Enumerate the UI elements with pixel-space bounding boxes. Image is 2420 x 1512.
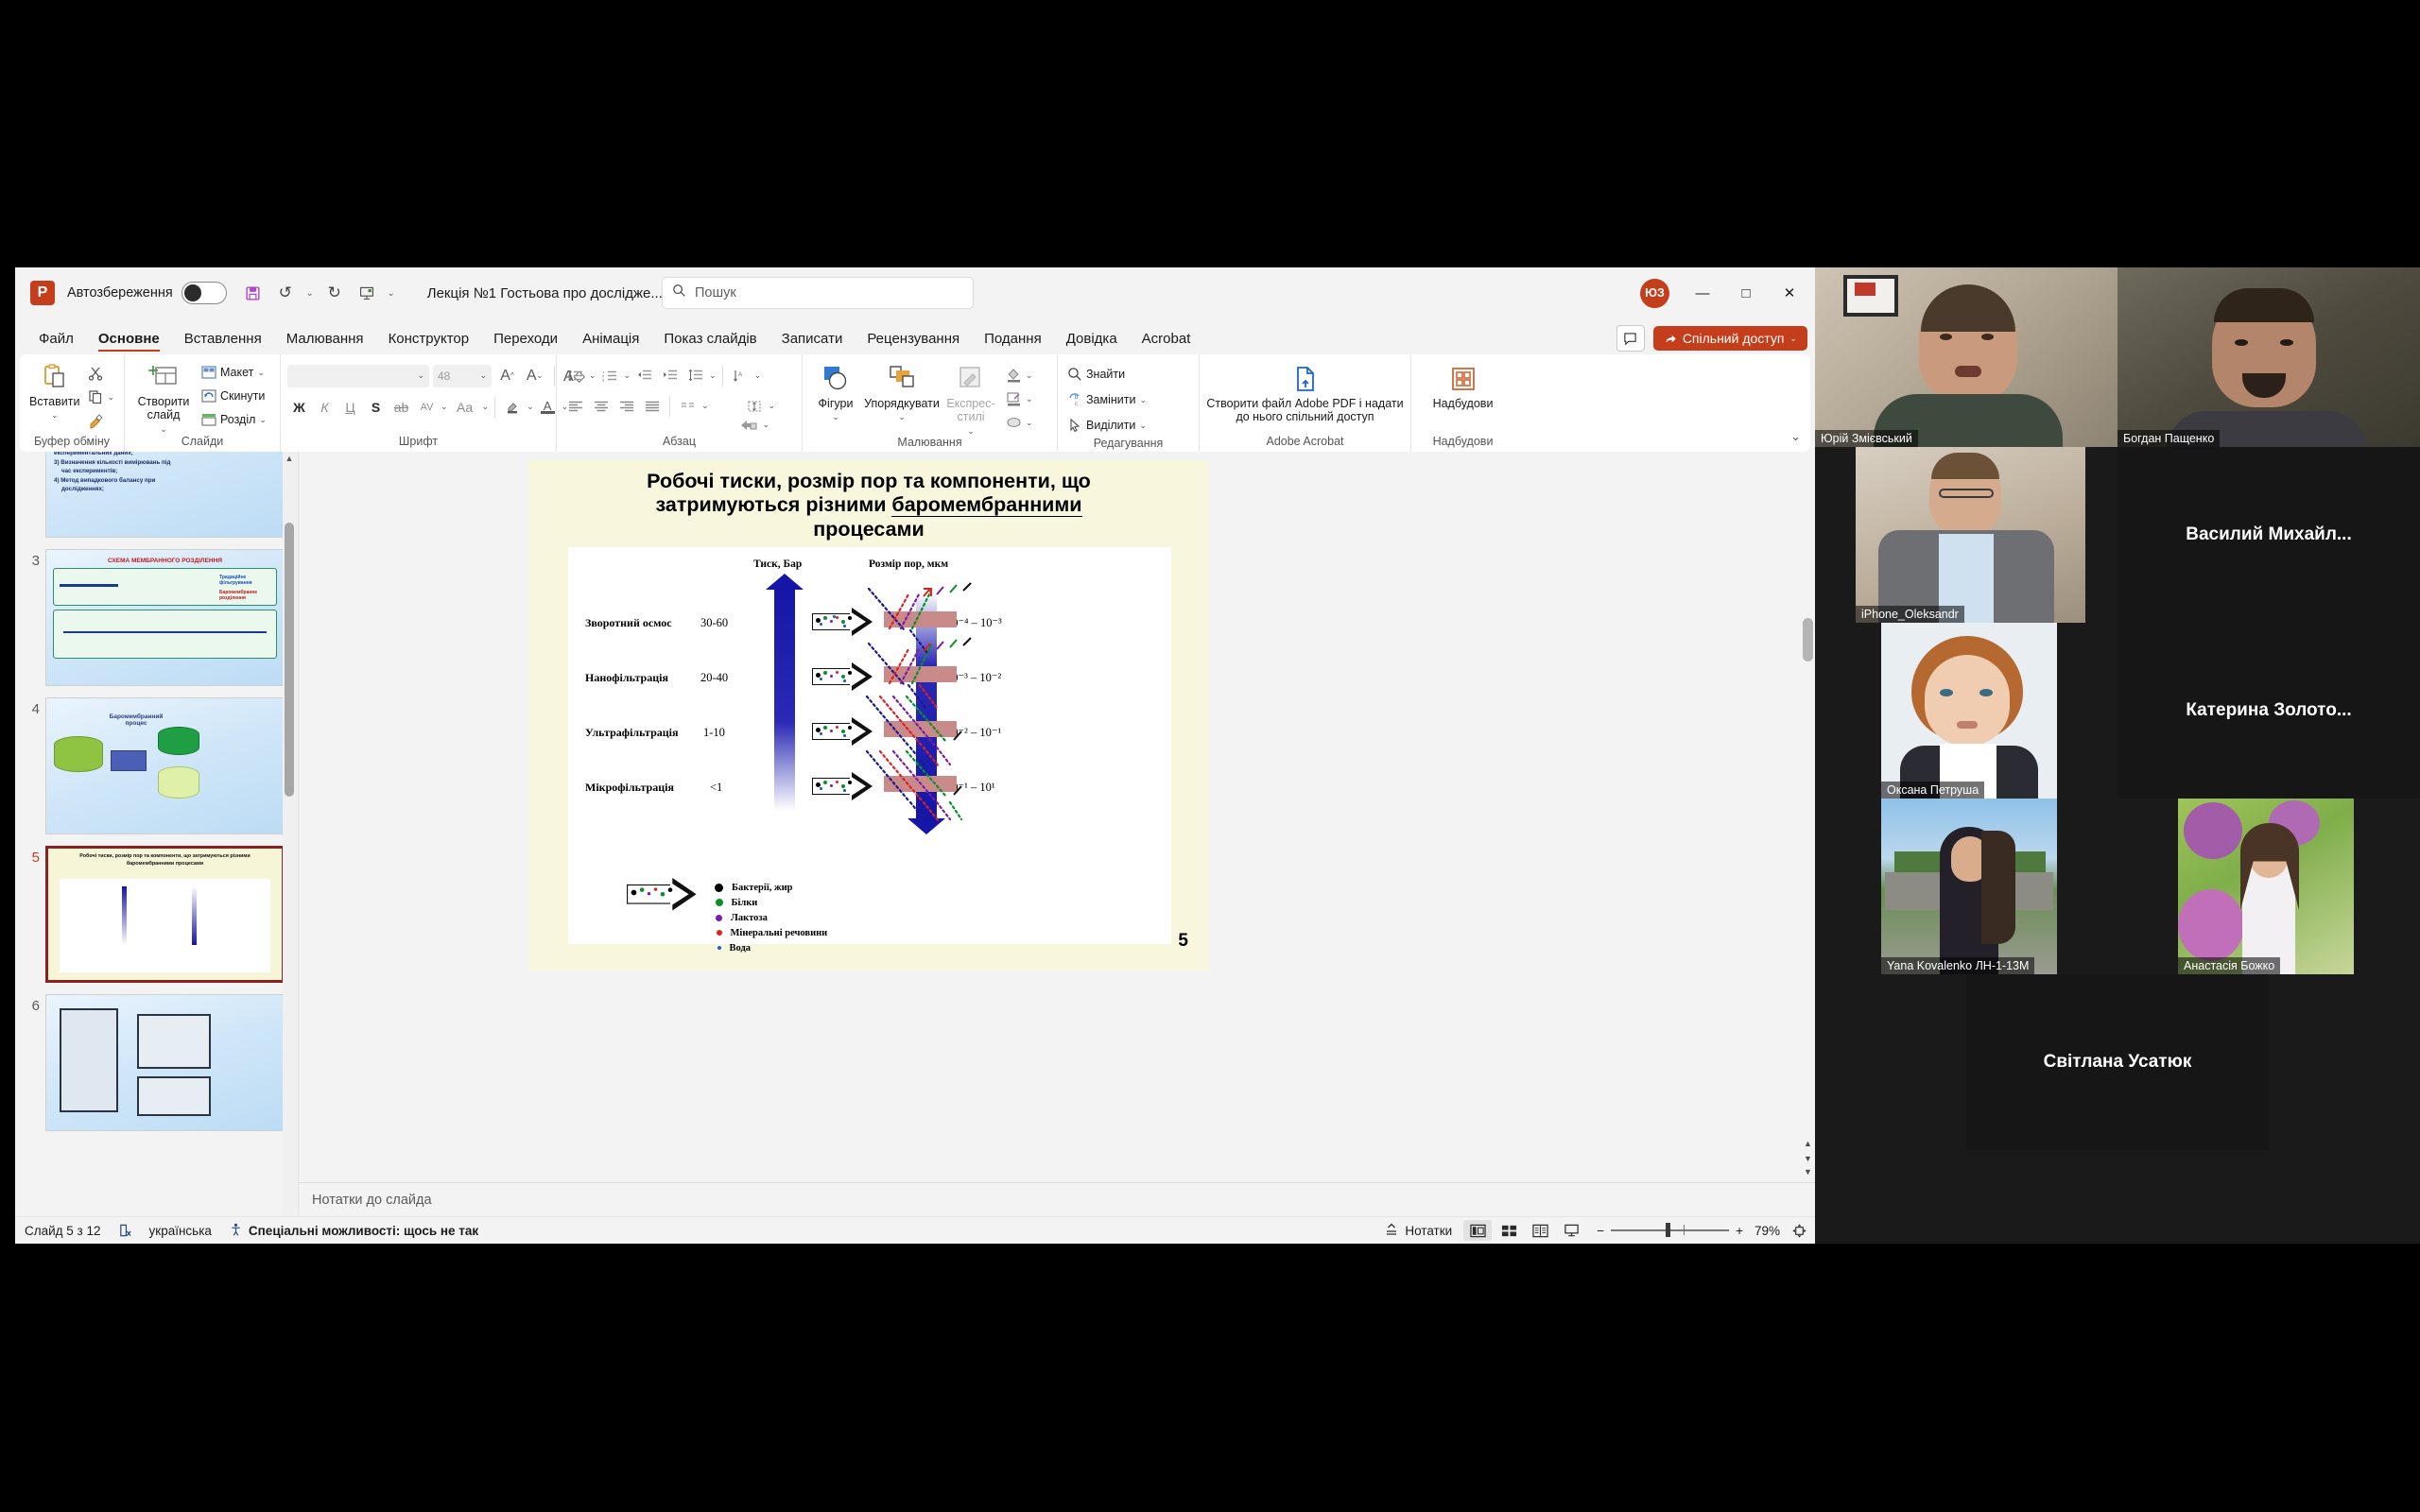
shapes-icon [821,363,851,395]
reset-label: Скинути [220,389,265,403]
drawing-group-label: Малювання [809,436,1050,452]
case-chevron-icon[interactable]: ⌄ [482,402,490,412]
italic-button[interactable]: К [313,395,337,419]
slide-diagram-panel: Тиск, Бар Розмір пор, мкм Зворотний осмо… [568,547,1171,944]
thumbnail-item[interactable]: 3 СХЕМА МЕМБРАННОГО РОЗДІЛЕННЯ Традиційн… [15,543,298,692]
zoom-midpoint [1684,1225,1685,1235]
language-indicator[interactable]: українська [149,1224,212,1238]
membrane-process-diagram: Тиск, Бар Розмір пор, мкм Зворотний осмо… [568,547,1171,944]
participant-tile-novideo[interactable]: Василий Михайл... [2117,447,2420,623]
accessibility-icon [229,1222,243,1240]
strikethrough-button[interactable]: ab [389,395,413,419]
save-icon[interactable] [238,279,268,307]
paste-button[interactable]: Вставити ⌄ [26,358,82,421]
font-size-input[interactable]: 48 ⌄ [433,365,492,387]
thumbnail-number: 4 [19,697,40,717]
participant-tile-novideo[interactable]: Катерина Золото... [2117,623,2420,799]
acrobat-group-label: Adobe Acrobat [1206,435,1404,452]
slideshow-icon[interactable] [1557,1220,1585,1241]
thumbnail-preview[interactable] [45,994,285,1131]
legend-item: Мінеральні речовини [715,925,827,940]
thumbnail-preview[interactable]: Баромембранний процес [45,697,285,834]
thumb1-label0: Традиційне фільтрування [219,575,272,586]
legend-label-2: Лактоза [731,913,768,923]
notes-button-label: Нотатки [1405,1224,1452,1238]
next-slide-icon[interactable]: ▼ [1801,1154,1815,1167]
bullets-chevron-icon[interactable]: ⌄ [589,370,596,381]
feed-arrow-0 [812,608,874,636]
workspace: експериментальних даних; 3) Визначення к… [15,452,1815,1216]
shape-fill-chevron-icon[interactable]: ⌄ [1026,370,1033,381]
notes-pane[interactable]: Нотатки до слайда [299,1182,1815,1216]
status-bar: Слайд 5 з 12 українська Спеціальні можли… [15,1216,1815,1244]
process-name-3: Мікрофільтрація [585,781,674,795]
svg-text:c: c [1075,402,1078,407]
legend-dot-lactose [716,915,722,921]
notes-icon [1384,1222,1399,1239]
find-label: Знайти [1086,368,1125,381]
avatar[interactable]: ЮЗ [1640,279,1669,308]
highlight-icon[interactable] [501,395,525,419]
autosave-label: Автозбереження [67,285,173,301]
shape-outline-chevron-icon[interactable]: ⌄ [1026,394,1033,404]
slide-editing-pane: Робочі тиски, розмір пор та компоненти, … [299,452,1815,1216]
participant-name: Катерина Золото... [2186,700,2351,721]
thumb0-line3: 4) Метод випадкового балансу при [54,476,276,486]
font-name-input[interactable]: ⌄ [287,365,429,387]
process-pressure-3: <1 [710,781,722,795]
legend-item: Лактоза [715,910,827,925]
search-placeholder: Пошук [695,285,736,301]
paste-chevron-icon[interactable]: ⌄ [51,410,59,420]
ribbon-group-clipboard: Вставити ⌄ ⌄ [20,354,124,452]
tab-home[interactable]: Основне [86,327,172,354]
thumb2-title: Баромембранний процес [101,713,171,727]
legend-dot-water [717,946,721,950]
undo-icon[interactable]: ↺ [270,279,301,307]
align-left-icon[interactable] [563,394,587,418]
line-spacing-icon[interactable] [683,364,707,387]
addins-button[interactable]: Надбудови [1418,360,1508,410]
change-case-button[interactable]: Aa [450,395,480,419]
quick-styles-label: Експрес-стилі [942,397,1000,424]
tab-acrobat[interactable]: Acrobat [1130,327,1203,354]
reset-button[interactable]: Скинути [199,385,269,407]
legend-item: Білки [715,895,827,910]
justify-icon[interactable] [640,394,664,418]
ribbon-group-drawing: Фігури ⌄ Упорядкувати ⌄ Ек [802,354,1057,452]
tab-animations[interactable]: Анімація [570,327,651,354]
addins-icon [1449,363,1478,395]
tab-record[interactable]: Записати [769,327,856,354]
participant-name: Юрій Змієвський [1815,430,1918,447]
shapes-label: Фігури [819,397,854,410]
thumbnail-item[interactable]: експериментальних даних; 3) Визначення к… [15,452,298,543]
slide-sorter-icon[interactable] [1495,1220,1523,1241]
copy-chevron-icon[interactable]: ⌄ [107,392,114,403]
legend-feed-arrow [627,878,699,911]
powerpoint-logo-icon: P [30,281,55,305]
autosave-toggle[interactable] [181,282,227,304]
tab-file[interactable]: Файл [26,327,86,354]
shape-effects-button[interactable]: ⌄ [1003,411,1036,434]
shapes-chevron-icon[interactable]: ⌄ [832,412,839,421]
minimize-button[interactable]: — [1683,275,1722,311]
layout-button[interactable]: Макет ⌄ [199,361,269,384]
process-pressure-1: 20-40 [700,671,728,685]
participant-name: Оксана Петруша [1881,782,1984,799]
arrange-icon [887,363,917,395]
zoom-track[interactable] [1611,1229,1729,1231]
thumbnail-item[interactable]: 6 [15,988,298,1137]
layout-label: Макет [220,366,253,379]
ribbon-group-editing: Знайти bc Замінити ⌄ Виділити ⌄ Редагува… [1057,354,1199,452]
legend-label-1: Білки [732,898,758,908]
smartart-chevron-icon[interactable]: ⌄ [762,420,769,430]
new-slide-label: Створити слайд [131,395,196,422]
quick-styles-icon [957,363,985,395]
membrane-0 [884,611,957,627]
new-slide-icon [148,361,179,393]
bullets-icon[interactable] [563,364,587,387]
legend-dot-bacteria-fat [715,884,723,892]
tab-transitions[interactable]: Переходи [481,327,570,354]
thumbnail-item[interactable]: 4 Баромембранний процес [15,692,298,840]
thumbnail-number: 3 [19,549,40,569]
participant-tile[interactable]: iPhone_Oleksandr [1856,447,2085,623]
undo-dropdown-icon[interactable]: ⌄ [302,279,318,307]
select-chevron-icon[interactable]: ⌄ [1139,421,1147,431]
search-icon [672,283,686,302]
create-pdf-button[interactable]: Створити файл Adobe PDF і надати до ньог… [1206,360,1404,424]
new-slide-button[interactable]: Створити слайд ⌄ [131,358,196,434]
thumbnail-preview[interactable]: Робочі тиски, розмір пор та компоненти, … [45,846,285,983]
columns-chevron-icon[interactable]: ⌄ [701,401,709,411]
feed-arrow-1 [812,662,874,691]
participant-tile[interactable]: Yana Kovalenko ЛН-1-13М [1881,799,2057,974]
paragraph-group-label: Абзац [563,435,795,452]
addins-group-label: Надбудови [1418,435,1508,452]
membrane-2 [884,721,957,737]
slide-page-number: 5 [1178,931,1188,952]
zoom-level[interactable]: 79% [1754,1224,1780,1238]
comment-icon[interactable] [1616,325,1645,352]
thumbnails-scrollbar[interactable]: ▲ [283,452,296,1216]
spellcheck-icon[interactable] [118,1223,132,1238]
tab-help[interactable]: Довідка [1054,327,1130,354]
tab-design[interactable]: Конструктор [376,327,482,354]
legend-label-0: Бактерії, жир [732,883,793,893]
decrease-indent-icon[interactable] [632,364,656,387]
new-slide-chevron-icon[interactable]: ⌄ [160,424,167,434]
slide-title-line3: процесами [578,518,1160,541]
participant-tile-novideo[interactable]: Світлана Усатюк [1966,974,2269,1150]
ribbon-group-addins: Надбудови Надбудови [1410,354,1514,452]
legend-item: Бактерії, жир [715,880,827,895]
align-text-chevron-icon[interactable]: ⌄ [769,401,776,411]
quick-styles-chevron-icon[interactable]: ⌄ [967,426,975,436]
membrane-3 [884,776,957,792]
arrange-chevron-icon[interactable]: ⌄ [898,412,906,421]
spacing-chevron-icon[interactable]: ⌄ [441,402,448,412]
underline-button[interactable]: Ц [338,395,362,419]
quick-access-toolbar: ↺ ⌄ ↻ ⌄ [238,279,399,307]
character-spacing-button[interactable]: AV [415,395,439,419]
svg-text:A: A [738,372,742,378]
current-slide[interactable]: Робочі тиски, розмір пор та компоненти, … [528,460,1209,971]
ribbon-tabs: Файл Основне Вставлення Малювання Констр… [15,318,1815,354]
layout-chevron-icon[interactable]: ⌄ [257,368,265,378]
slide-title-line2a: затримуються різними [655,493,891,516]
legend-item: Вода [715,940,827,955]
font-size-chevron-icon[interactable]: ⌄ [479,370,487,381]
slides-group-label: Слайди [131,435,273,452]
tab-draw[interactable]: Малювання [274,327,376,354]
copy-button[interactable]: ⌄ [85,386,117,408]
participant-name: Богдан Пащенко [2117,430,2220,447]
participant-name: Yana Kovalenko ЛН-1-13М [1881,957,2034,974]
process-name-2: Ультрафільтрація [585,726,679,740]
share-button[interactable]: Спільний доступ ⌄ [1653,326,1807,351]
status-right: Нотатки − [1384,1220,1807,1241]
thumb0-line4: дослідженнях; [54,485,276,494]
text-direction-icon[interactable]: A [729,364,752,387]
scroll-down-icon[interactable]: ▼ [1801,1167,1815,1180]
legend-dot-minerals [717,930,722,936]
shape-fill-button[interactable]: ⌄ [1003,364,1036,387]
maximize-button[interactable]: □ [1726,275,1766,311]
thumbnail-preview[interactable]: СХЕМА МЕМБРАННОГО РОЗДІЛЕННЯ Традиційне … [45,549,285,686]
svg-text:3: 3 [602,378,605,383]
slide-legend: Бактерії, жир Білки Лактоза [715,880,827,955]
bold-button[interactable]: Ж [287,395,311,419]
close-button[interactable]: ✕ [1770,275,1809,311]
align-right-icon[interactable] [614,394,638,418]
create-pdf-icon [1291,363,1320,395]
columns-icon[interactable] [676,394,700,418]
screen: P Автозбереження ↺ ⌄ ↻ ⌄ Лекція №1 Гость… [0,0,2420,1512]
thumb1-label1: Баромембранне розділення [219,590,272,601]
pore-axis-label: Розмір пор, мкм [869,558,948,570]
highlight-chevron-icon[interactable]: ⌄ [527,402,534,412]
feed-arrow-2 [812,717,874,746]
cut-button[interactable] [85,362,117,385]
legend-label-4: Вода [730,943,752,954]
process-pressure-0: 30-60 [700,616,728,630]
slide-title[interactable]: Робочі тиски, розмір пор та компоненти, … [528,460,1209,541]
find-button[interactable]: Знайти [1064,363,1128,386]
ribbon-group-slides: Створити слайд ⌄ Макет ⌄ Скинути [124,354,280,452]
editing-group-label: Редагування [1064,437,1192,452]
tab-insert[interactable]: Вставлення [172,327,274,354]
participant-tile[interactable]: Анастасія Божко [2178,799,2354,974]
ribbon-group-acrobat: Створити файл Adobe PDF і надати до ньог… [1199,354,1410,452]
replace-label: Замінити [1086,393,1135,406]
process-name-0: Зворотний осмос [585,616,672,630]
format-painter-button[interactable] [85,409,117,432]
tab-view[interactable]: Подання [972,327,1054,354]
clipboard-group-label: Буфер обміну [26,435,117,452]
thumbnail-number: 6 [19,994,40,1014]
title-bar: P Автозбереження ↺ ⌄ ↻ ⌄ Лекція №1 Гость… [15,267,1815,318]
section-chevron-icon[interactable]: ⌄ [259,415,267,425]
thumbnail-preview[interactable]: експериментальних даних; 3) Визначення к… [45,452,285,538]
pressure-axis-label: Тиск, Бар [753,558,802,570]
share-button-label: Спільний доступ [1683,331,1785,346]
smartart-icon[interactable] [736,413,760,437]
membrane-1 [884,666,957,682]
normal-view-icon[interactable] [1463,1220,1492,1241]
tab-slideshow[interactable]: Показ слайдів [651,327,769,354]
grow-font-icon[interactable]: A^ [495,364,519,387]
collapse-ribbon-icon[interactable]: ⌄ [1790,429,1801,444]
slide-scrollbar[interactable]: ▲ ▼ ▼ [1801,452,1815,1182]
section-label: Розділ [220,413,255,426]
share-chevron-icon: ⌄ [1789,334,1797,344]
participant-tile[interactable]: Богдан Пащенко [2117,267,2420,447]
meeting-participants-panel: Юрій Змієвський Богдан Пащенко iPhone_Ol… [1815,267,2420,1244]
accessibility-status[interactable]: Спеціальні можливості: щось не так [229,1222,478,1240]
pressure-arrow-up [774,589,795,811]
participant-name: Анастасія Божко [2178,957,2280,974]
create-pdf-label: Створити файл Adobe PDF і надати до ньог… [1206,397,1404,424]
shapes-button[interactable]: Фігури ⌄ [809,360,862,422]
feed-arrow-3 [812,772,874,800]
thumb0-line0: експериментальних даних; [54,452,276,458]
participant-name: iPhone_Oleksandr [1856,606,1964,623]
shape-outline-button[interactable]: ⌄ [1003,387,1036,410]
legend-dot-proteins [716,899,723,906]
font-size-value: 48 [438,369,450,383]
text-direction-chevron-icon[interactable]: ⌄ [754,370,762,381]
participant-tile[interactable]: Юрій Змієвський [1815,267,2117,447]
thumb3-title: Робочі тиски, розмір пор та компоненти, … [48,849,282,868]
slide-thumbnails-pane[interactable]: експериментальних даних; 3) Визначення к… [15,452,299,1216]
zoom-out-button[interactable]: − [1597,1224,1604,1238]
numbering-chevron-icon[interactable]: ⌄ [624,370,631,381]
customize-icon[interactable]: ⌄ [384,279,399,307]
tab-review[interactable]: Рецензування [855,327,972,354]
thumb0-line1: 3) Визначення кількості вимірювань під [54,458,276,468]
ribbon-group-paragraph: ⌄ 123 ⌄ ⌄ [556,354,802,452]
notes-button[interactable]: Нотатки [1384,1222,1452,1239]
addins-label: Надбудови [1433,397,1494,410]
font-name-chevron-icon[interactable]: ⌄ [417,370,424,381]
reading-view-icon[interactable] [1526,1220,1554,1241]
select-label: Виділити [1086,419,1135,432]
ribbon-body: Вставити ⌄ ⌄ [20,354,1810,452]
thumbnail-item-selected[interactable]: 5 Робочі тиски, розмір пор та компоненти… [15,840,298,988]
increase-indent-icon[interactable] [658,364,682,387]
participant-tile[interactable]: Оксана Петруша [1881,623,2057,799]
arrange-button[interactable]: Упорядкувати ⌄ [865,360,939,422]
redo-icon[interactable]: ↻ [320,279,350,307]
quick-styles-button[interactable]: Експрес-стилі ⌄ [942,360,1000,436]
window-controls: ЮЗ — □ ✕ [1640,267,1809,318]
search-input[interactable]: Пошук [662,277,974,309]
replace-chevron-icon[interactable]: ⌄ [1139,395,1147,405]
slide-scroll-thumb[interactable] [1803,618,1813,661]
scroll-up-icon[interactable]: ▲ [283,454,296,469]
slide-title-line2b: баромембранними [891,493,1081,517]
zoom-in-button[interactable]: + [1736,1224,1743,1238]
arrange-label: Упорядкувати [864,397,940,410]
paste-label: Вставити [29,395,79,408]
present-icon[interactable] [352,279,382,307]
section-button[interactable]: Розділ ⌄ [199,408,269,431]
process-name-1: Нанофільтрація [585,671,668,685]
thumbnails-scroll-thumb[interactable] [285,523,294,797]
align-center-icon[interactable] [589,394,613,418]
thumb1-title: СХЕМА МЕМБРАННОГО РОЗДІЛЕННЯ [46,550,284,564]
shape-effects-chevron-icon[interactable]: ⌄ [1026,418,1033,428]
paste-icon [41,361,69,393]
process-pressure-2: 1-10 [703,726,725,740]
participant-name: Василий Михайл... [2186,524,2351,545]
previous-slide-icon[interactable]: ▲ [1801,1139,1815,1152]
zoom-thumb[interactable] [1666,1223,1670,1237]
accessibility-text: Спеціальні можливості: щось не так [249,1224,478,1238]
slide-counter[interactable]: Слайд 5 з 12 [25,1224,101,1238]
numbering-icon[interactable]: 123 [598,364,622,387]
thumbnail-number: 5 [19,846,40,866]
select-button[interactable]: Виділити ⌄ [1064,414,1149,437]
fit-to-window-icon[interactable] [1791,1223,1807,1239]
ribbon-group-font: ⌄ 48 ⌄ A^ A⌄ A◇ Ж К Ц S [280,354,556,452]
shrink-font-icon[interactable]: A⌄ [523,364,546,387]
thumb0-line2: час експериментів; [54,467,276,476]
legend-label-3: Мінеральні речовини [731,928,828,938]
replace-button[interactable]: bc Замінити ⌄ [1064,388,1149,411]
slide-title-line1: Робочі тиски, розмір пор та компоненти, … [578,470,1160,493]
font-group-label: Шрифт [287,435,549,452]
participant-name: Світлана Усатюк [2044,1052,2192,1073]
zoom-slider[interactable]: − + [1597,1224,1743,1238]
powerpoint-window: P Автозбереження ↺ ⌄ ↻ ⌄ Лекція №1 Гость… [15,267,1815,1244]
text-shadow-button[interactable]: S [364,395,388,419]
slide-canvas-area[interactable]: Робочі тиски, розмір пор та компоненти, … [299,452,1815,1182]
line-spacing-chevron-icon[interactable]: ⌄ [709,370,717,381]
